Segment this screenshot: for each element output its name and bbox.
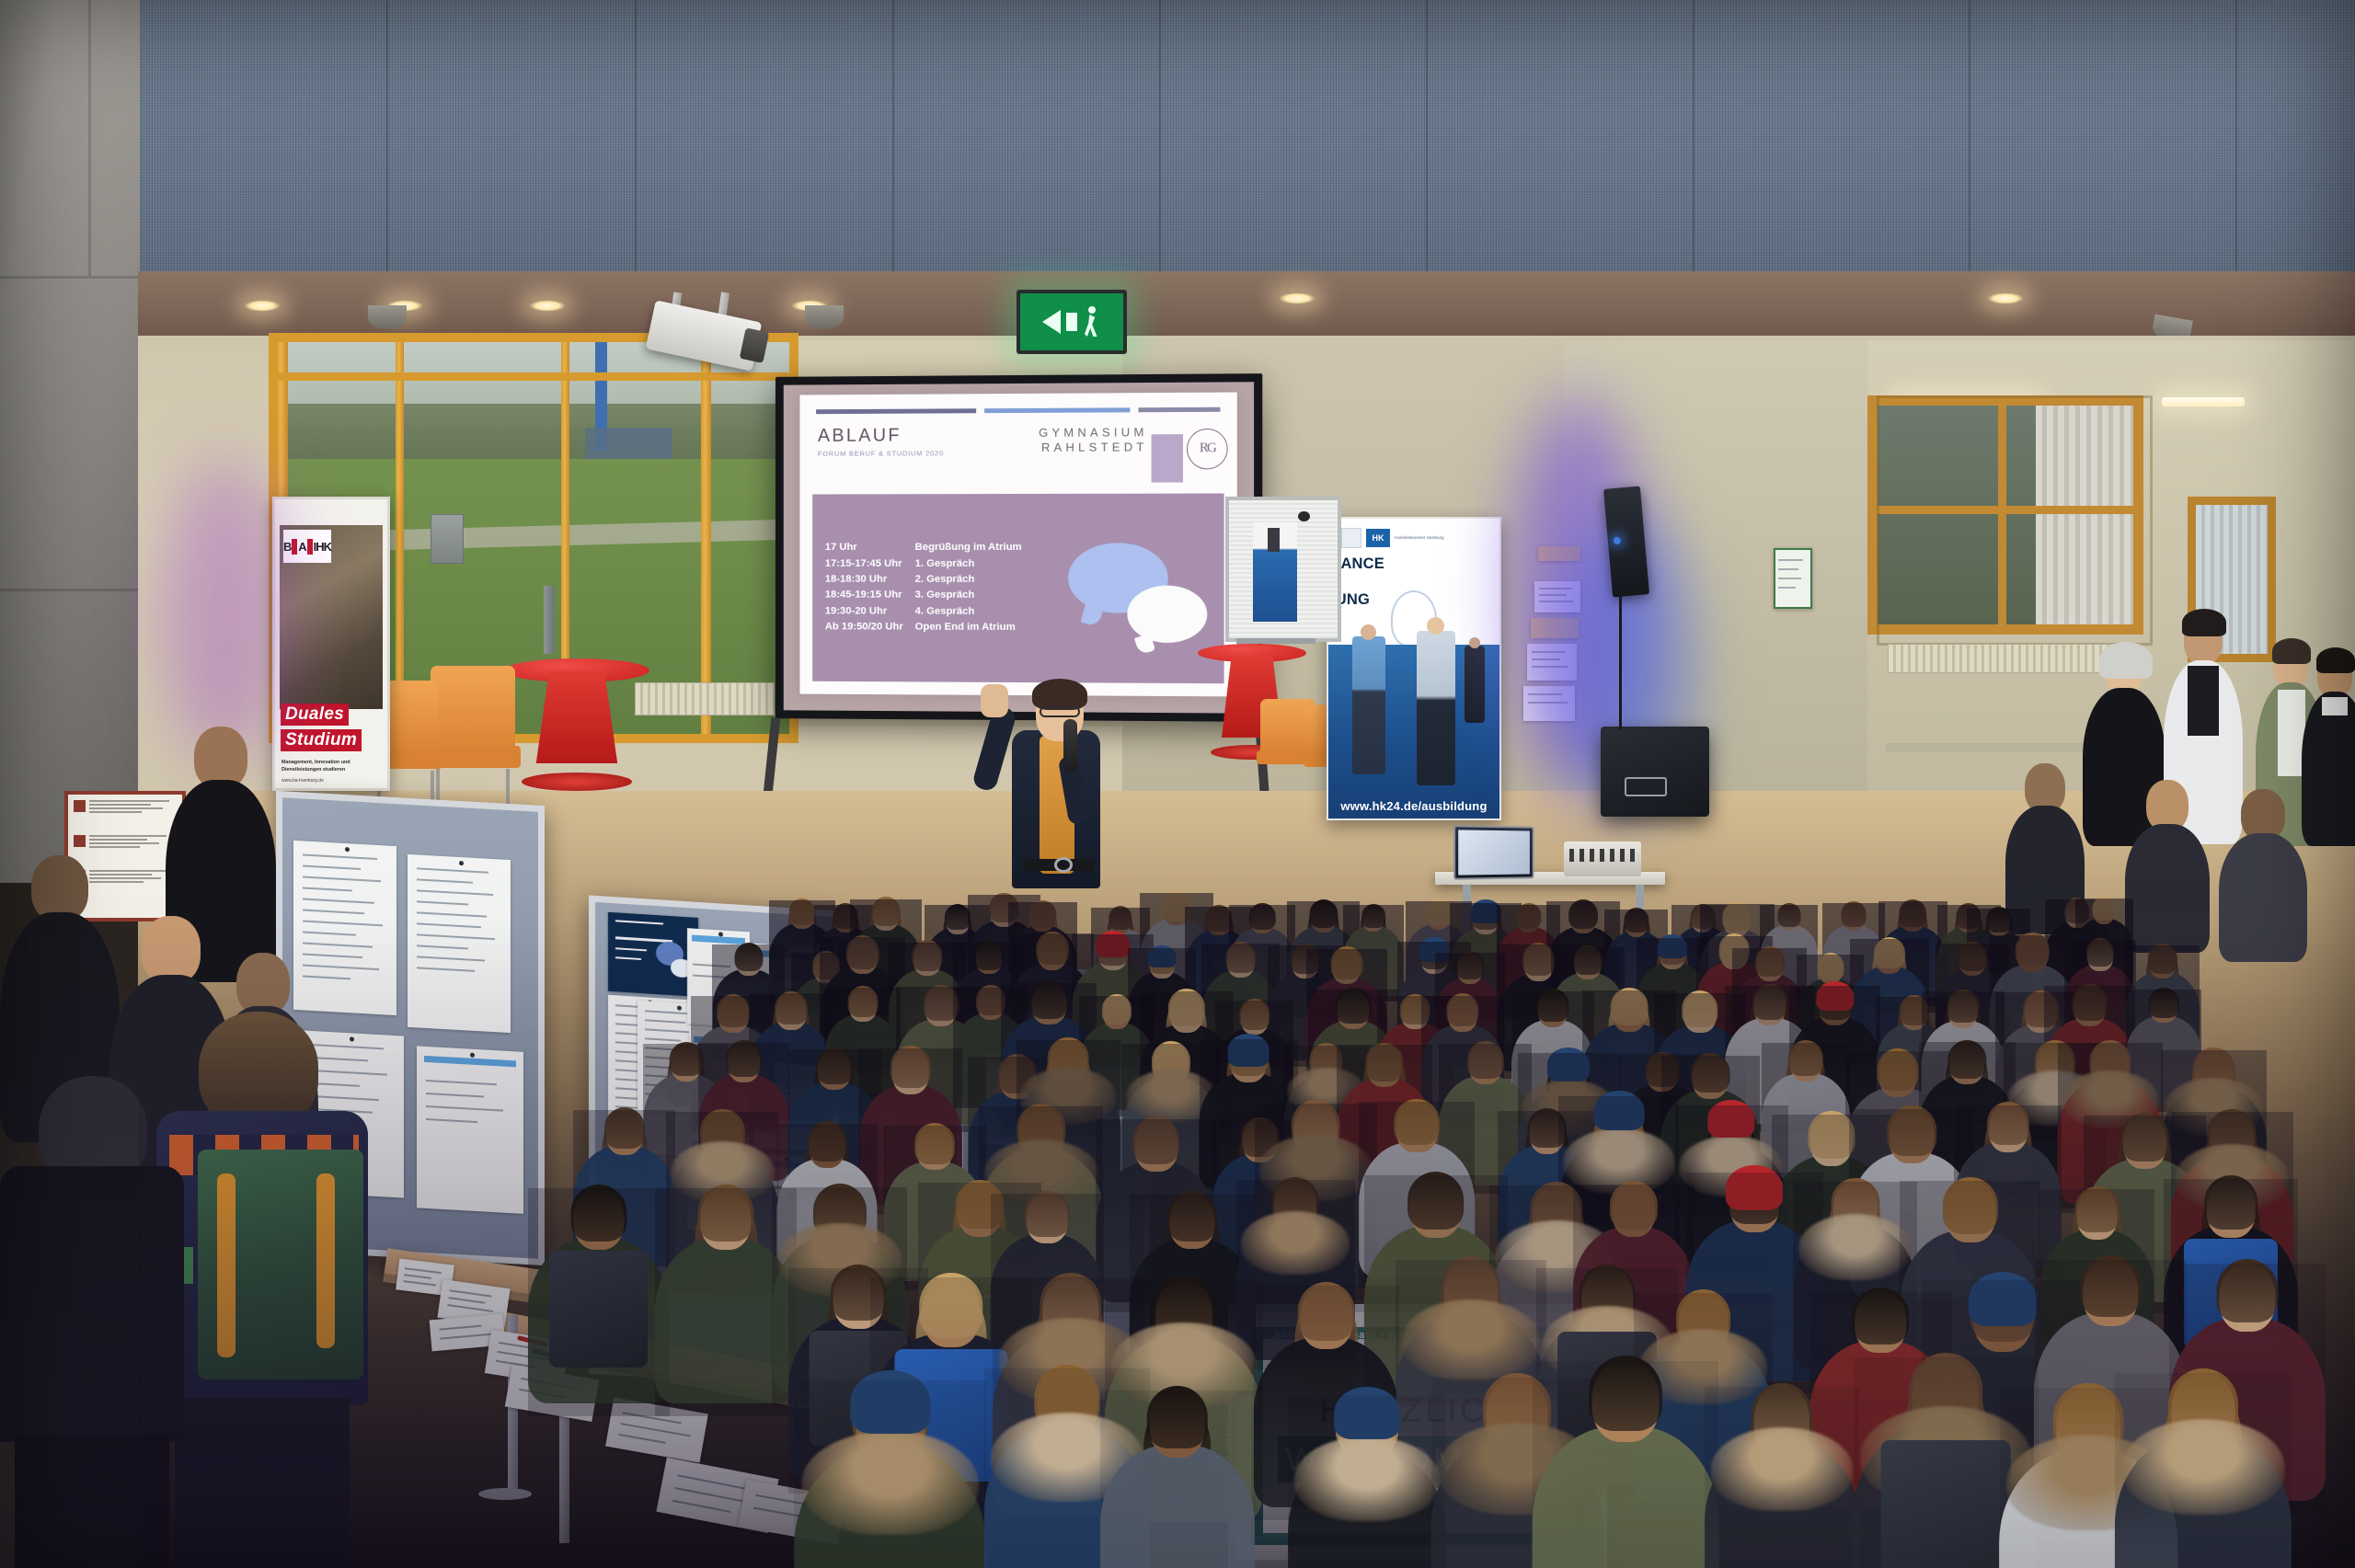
audience-hair <box>845 935 879 969</box>
audience-hair <box>919 1273 982 1338</box>
beanie-hat <box>1547 1047 1590 1082</box>
audience-hair <box>1205 905 1232 932</box>
audience-hair <box>1167 1191 1217 1242</box>
beanie-hat <box>1334 1387 1400 1439</box>
audience-hair <box>2086 938 2115 967</box>
audience-hair <box>1361 904 1385 928</box>
fur-hood <box>1711 1427 1853 1510</box>
audience-hair <box>1298 1282 1356 1341</box>
beanie-hat <box>1148 945 1177 968</box>
audience-hair <box>1309 899 1338 929</box>
audience-hair <box>1102 994 1132 1024</box>
beanie-hat <box>1096 931 1130 958</box>
audience-hair <box>1036 932 1069 965</box>
audience-person <box>1705 1387 1859 1568</box>
audience-hair <box>1986 907 2011 933</box>
audience-torso <box>1100 1445 1255 1568</box>
audience-hair <box>1987 1102 2029 1145</box>
beanie-hat <box>1593 1091 1644 1131</box>
beanie-hat <box>1816 981 1854 1012</box>
audience-hair <box>1610 1181 1658 1230</box>
audience-person <box>794 1380 986 1568</box>
audience-hair <box>1808 1111 1855 1159</box>
audience-hair <box>2204 1175 2257 1230</box>
audience-hair <box>570 1185 626 1242</box>
audience-person <box>1533 1361 1719 1568</box>
audience-hair <box>1239 999 1269 1030</box>
audience-hair <box>604 1107 645 1149</box>
audience-hair <box>1147 1386 1208 1448</box>
fur-hood <box>801 1431 979 1535</box>
audience-hair <box>1853 1288 1909 1345</box>
audience-hair <box>1817 953 1844 980</box>
audience-hair <box>1168 989 1205 1026</box>
audience-hair <box>1573 945 1603 975</box>
audience-hair <box>789 898 815 925</box>
audience-hair <box>1330 946 1362 979</box>
audience-hair <box>975 941 1004 969</box>
audience-hair <box>2072 984 2108 1021</box>
audience-hair <box>1624 908 1648 933</box>
audience-hair <box>1887 1105 1936 1155</box>
audience-hair <box>2149 988 2179 1018</box>
audience-person <box>1288 1395 1446 1568</box>
audience-hair <box>1030 980 1068 1019</box>
audience-hair <box>808 1121 847 1162</box>
audience-hair <box>1516 903 1541 929</box>
fur-hood <box>2122 1419 2285 1515</box>
fur-hood <box>1294 1436 1440 1522</box>
fur-hood <box>1798 1214 1913 1280</box>
beanie-hat <box>1969 1272 2037 1326</box>
audience-hair <box>2148 944 2177 974</box>
audience-hair <box>1456 951 1484 979</box>
audience-hair <box>717 994 750 1028</box>
beanie-hat <box>1657 934 1687 958</box>
audience-hair <box>1537 989 1569 1022</box>
audience-hair <box>1841 901 1866 926</box>
audience-hair <box>1029 900 1057 928</box>
audience-hair <box>734 943 763 972</box>
audience-hair <box>1959 942 1988 971</box>
beanie-hat <box>1726 1165 1783 1211</box>
audience-hair <box>1446 993 1478 1026</box>
audience-hair <box>1900 899 1927 927</box>
audience-hair <box>1722 902 1752 933</box>
audience-hair <box>1943 1177 1998 1233</box>
photo-scene: ABLAUF FORUM BERUF & STUDIUM 2020 GYMNAS… <box>0 0 2355 1568</box>
beanie-hat <box>1228 1034 1269 1067</box>
audience-hair <box>872 897 901 925</box>
audience-hair <box>698 1185 754 1242</box>
backpack <box>1881 1440 2011 1568</box>
audience-hair <box>1394 1099 1440 1146</box>
audience-hair <box>847 986 878 1016</box>
audience-hair <box>1777 903 1800 926</box>
fur-hood <box>1402 1299 1540 1380</box>
audience-hair <box>1365 1043 1403 1082</box>
audience-hair <box>2216 1259 2278 1322</box>
audience-hair <box>1788 1040 1823 1076</box>
audience-hair <box>1611 988 1648 1025</box>
audience-hair <box>2120 1113 2169 1162</box>
audience-hair <box>1467 1041 1504 1079</box>
audience-hair <box>1225 942 1256 973</box>
audience-hair <box>1682 990 1718 1027</box>
audience-torso <box>1533 1426 1719 1568</box>
audience-hair <box>913 940 943 971</box>
audience-hair <box>2016 933 2050 967</box>
audience-hair <box>1132 1116 1180 1165</box>
audience-hair <box>1249 903 1275 930</box>
audience-hair <box>1691 1053 1730 1093</box>
audience-hair <box>1407 1172 1465 1230</box>
audience-hair <box>1025 1191 1070 1237</box>
audience-hair <box>1568 899 1598 929</box>
audience-hair <box>914 1123 955 1164</box>
audience-hair <box>1947 990 1980 1023</box>
audience-hair <box>1425 899 1451 926</box>
audience-hair <box>1755 946 1785 977</box>
audience-person <box>2115 1373 2292 1568</box>
audience-hair <box>1589 1356 1662 1431</box>
audience-hair <box>890 1046 930 1087</box>
audience-hair <box>2081 1255 2141 1317</box>
audience-hair <box>816 1047 853 1085</box>
audience-hair <box>1109 906 1132 930</box>
audience-hair <box>2093 897 2116 921</box>
beanie-hat <box>850 1370 930 1435</box>
audience-hair <box>775 991 808 1025</box>
fur-hood <box>1241 1211 1350 1275</box>
audience-crowd <box>0 0 2355 1568</box>
backpack <box>549 1251 649 1367</box>
audience-hair <box>1874 937 1905 969</box>
audience-hair <box>1752 984 1788 1021</box>
beanie-hat <box>1707 1100 1754 1138</box>
audience-hair <box>726 1040 762 1077</box>
audience-person <box>528 1188 670 1416</box>
audience-hair <box>1948 1040 1986 1079</box>
audience-hair <box>1878 1048 1919 1091</box>
audience-hair <box>1336 988 1371 1024</box>
audience-hair <box>2074 1186 2119 1232</box>
audience-person <box>1100 1391 1255 1568</box>
